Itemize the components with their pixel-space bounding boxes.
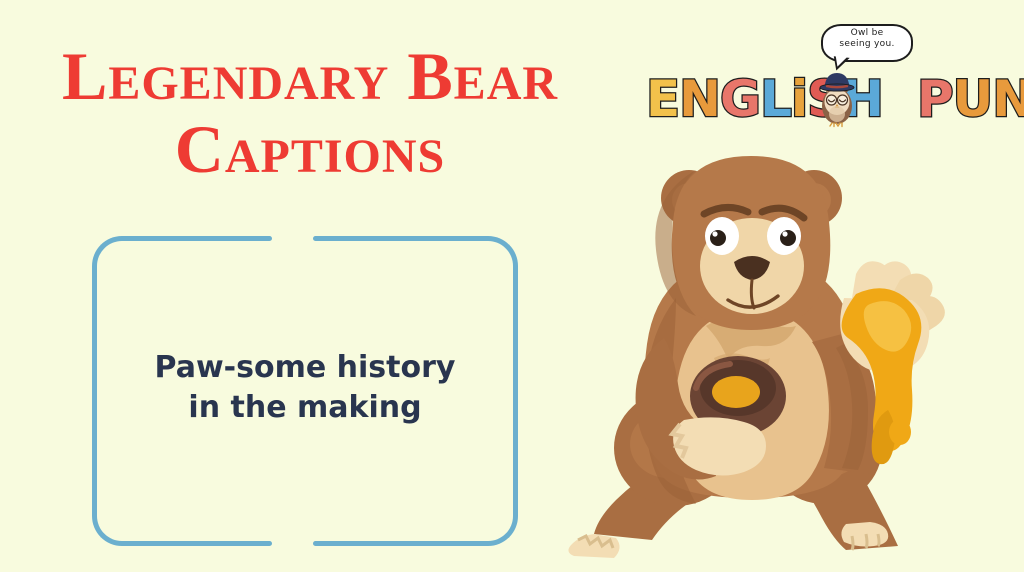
title-line-1: Legendary Bear: [0, 44, 620, 109]
logo-letter-p: P: [917, 68, 953, 130]
honey-droplet: [889, 419, 911, 445]
owl-icon: [814, 62, 860, 130]
card-border-top-right: [313, 236, 488, 241]
english-puns-logo[interactable]: Owl be seeing you. ENGLiSHPUNS: [646, 24, 976, 134]
logo-letter-n2: N: [992, 68, 1024, 130]
logo-letter-l: L: [760, 68, 791, 130]
card-border-bottom-left: [122, 541, 272, 546]
title-line-2: Captions: [0, 117, 620, 182]
card-corner-bottom-left: [92, 510, 128, 546]
caption-card: Paw-some history in the making: [92, 236, 518, 546]
speech-bubble-line-2: seeing you.: [821, 39, 913, 50]
logo-letter-i: i: [791, 68, 807, 130]
logo-letter-g: G: [720, 68, 760, 130]
caption-line-1: Paw-some history: [92, 348, 518, 388]
bear-right-pupil: [780, 230, 796, 246]
logo-wordmark: ENGLiSHPUNS: [646, 68, 976, 130]
logo-letter-u: U: [953, 68, 993, 130]
card-border-bottom-right: [313, 541, 488, 546]
caption-text: Paw-some history in the making: [92, 348, 518, 428]
bear-illustration: [556, 148, 966, 568]
logo-letter-e: E: [646, 68, 679, 130]
speech-bubble-text: Owl be seeing you.: [821, 28, 913, 50]
card-corner-top-left: [92, 236, 128, 272]
honey-pot-contents: [712, 376, 760, 408]
page-title: Legendary Bear Captions: [0, 44, 620, 181]
speech-bubble-line-1: Owl be: [821, 28, 913, 39]
card-border-top-left: [122, 236, 272, 241]
speech-bubble: Owl be seeing you.: [821, 24, 913, 66]
logo-letter-n: N: [679, 68, 720, 130]
poster-canvas: Legendary Bear Captions Owl be seeing yo…: [0, 0, 1024, 572]
card-corner-bottom-right: [482, 510, 518, 546]
card-corner-top-right: [482, 236, 518, 272]
caption-line-2: in the making: [92, 388, 518, 428]
bear-right-eye-glint: [782, 231, 787, 236]
bear-left-eye-glint: [712, 231, 717, 236]
bear-left-pupil: [710, 230, 726, 246]
